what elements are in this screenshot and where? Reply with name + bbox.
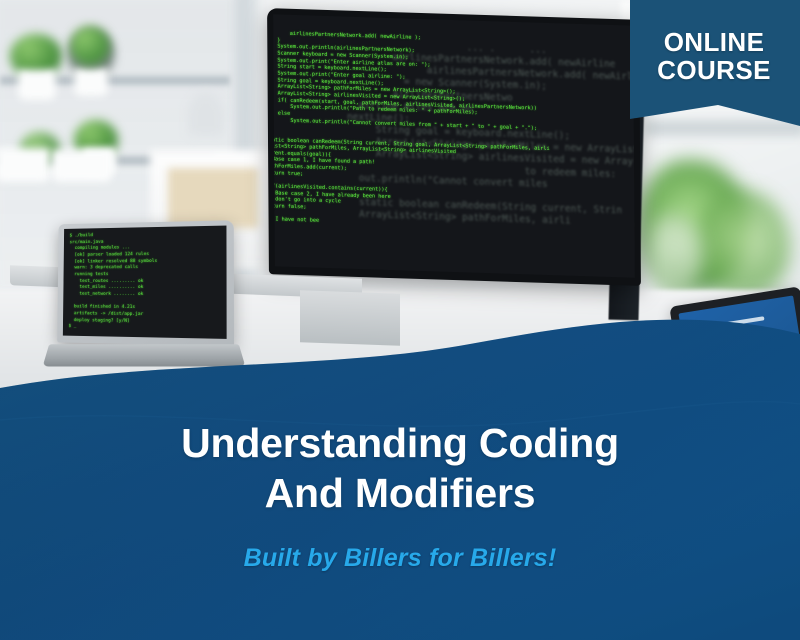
page-title: Understanding Coding And Modifiers xyxy=(0,418,800,518)
online-course-ribbon xyxy=(628,0,800,132)
plant-pot xyxy=(52,150,112,182)
banner-subtitle: Built by Billers for Billers! xyxy=(0,544,800,573)
monitor-screen: ... . ... airlinesPartnersNetwork.add( n… xyxy=(273,14,635,277)
potted-plant-icon xyxy=(70,26,110,66)
foliage-blur xyxy=(646,214,704,294)
cardboard-box xyxy=(168,168,258,228)
title-line-1: Understanding Coding xyxy=(181,420,619,466)
course-banner: ... . ... airlinesPartnersNetwork.add( n… xyxy=(0,0,800,640)
banner-text-block: Understanding Coding And Modifiers Built… xyxy=(0,418,800,573)
title-line-2: And Modifiers xyxy=(0,468,800,518)
plant-pot xyxy=(74,68,108,96)
foliage-blur xyxy=(700,190,790,300)
desktop-monitor: ... . ... airlinesPartnersNetwork.add( n… xyxy=(267,8,641,286)
monitor-code-text: airlinesPartnersNetwork.add( newAirline … xyxy=(273,29,550,232)
plant-pot xyxy=(0,148,50,182)
desk-lamp-icon xyxy=(188,92,224,136)
plant-pot xyxy=(18,70,56,100)
